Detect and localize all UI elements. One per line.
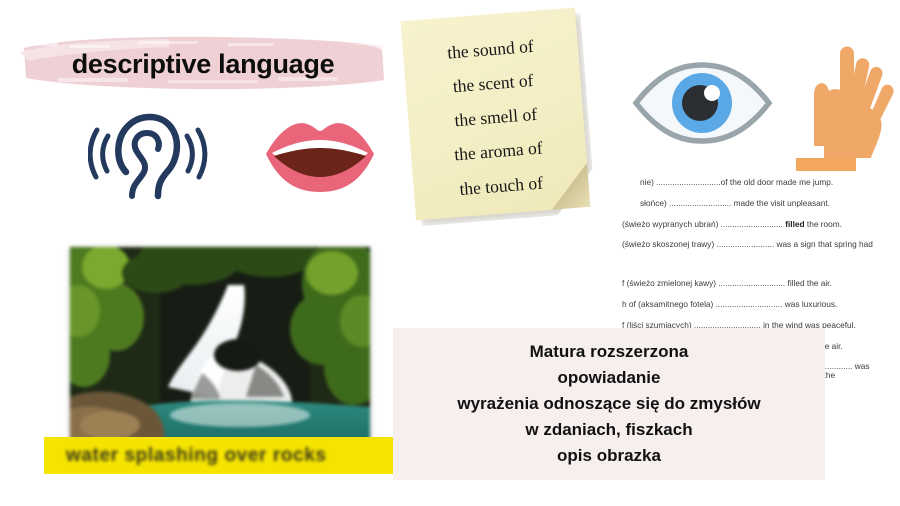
photo-caption-highlight: water splashing over rocks <box>44 437 394 474</box>
worksheet-line: słońce) ........................... made… <box>600 199 900 207</box>
eye-icon <box>630 58 775 148</box>
page-title: descriptive language <box>18 28 388 100</box>
title-banner: descriptive language <box>18 28 388 100</box>
slide-canvas: descriptive language the sound of the sc… <box>0 0 900 506</box>
waterfall-photo <box>70 247 370 442</box>
info-line: wyrażenia odnoszące się do zmysłów <box>457 391 760 417</box>
worksheet-line: (świeżo wypranych ubrań) ...............… <box>600 220 900 228</box>
sticky-note: the sound of the scent of the smell of t… <box>400 7 590 220</box>
worksheet-line: nie) ............................of the … <box>600 178 900 186</box>
ear-icon <box>88 100 210 205</box>
worksheet-gap <box>600 261 900 279</box>
sticky-note-lines: the sound of the scent of the smell of t… <box>402 25 590 209</box>
info-line: w zdaniach, fiszkach <box>525 417 692 443</box>
worksheet-orange-highlight <box>796 158 856 171</box>
worksheet-line: (świeżo skoszonej trawy) ...............… <box>600 240 900 248</box>
mouth-icon <box>263 112 377 197</box>
info-panel: Matura rozszerzona opowiadanie wyrażenia… <box>393 328 825 480</box>
photo-caption: water splashing over rocks <box>44 445 327 467</box>
info-line: opowiadanie <box>558 365 661 391</box>
info-line: Matura rozszerzona <box>530 339 689 365</box>
worksheet-line: f (świeżo zmielonej kawy) ..............… <box>600 279 900 287</box>
worksheet-line: h of (aksamitnego fotela) ..............… <box>600 300 900 308</box>
info-line: opis obrazka <box>557 443 661 469</box>
